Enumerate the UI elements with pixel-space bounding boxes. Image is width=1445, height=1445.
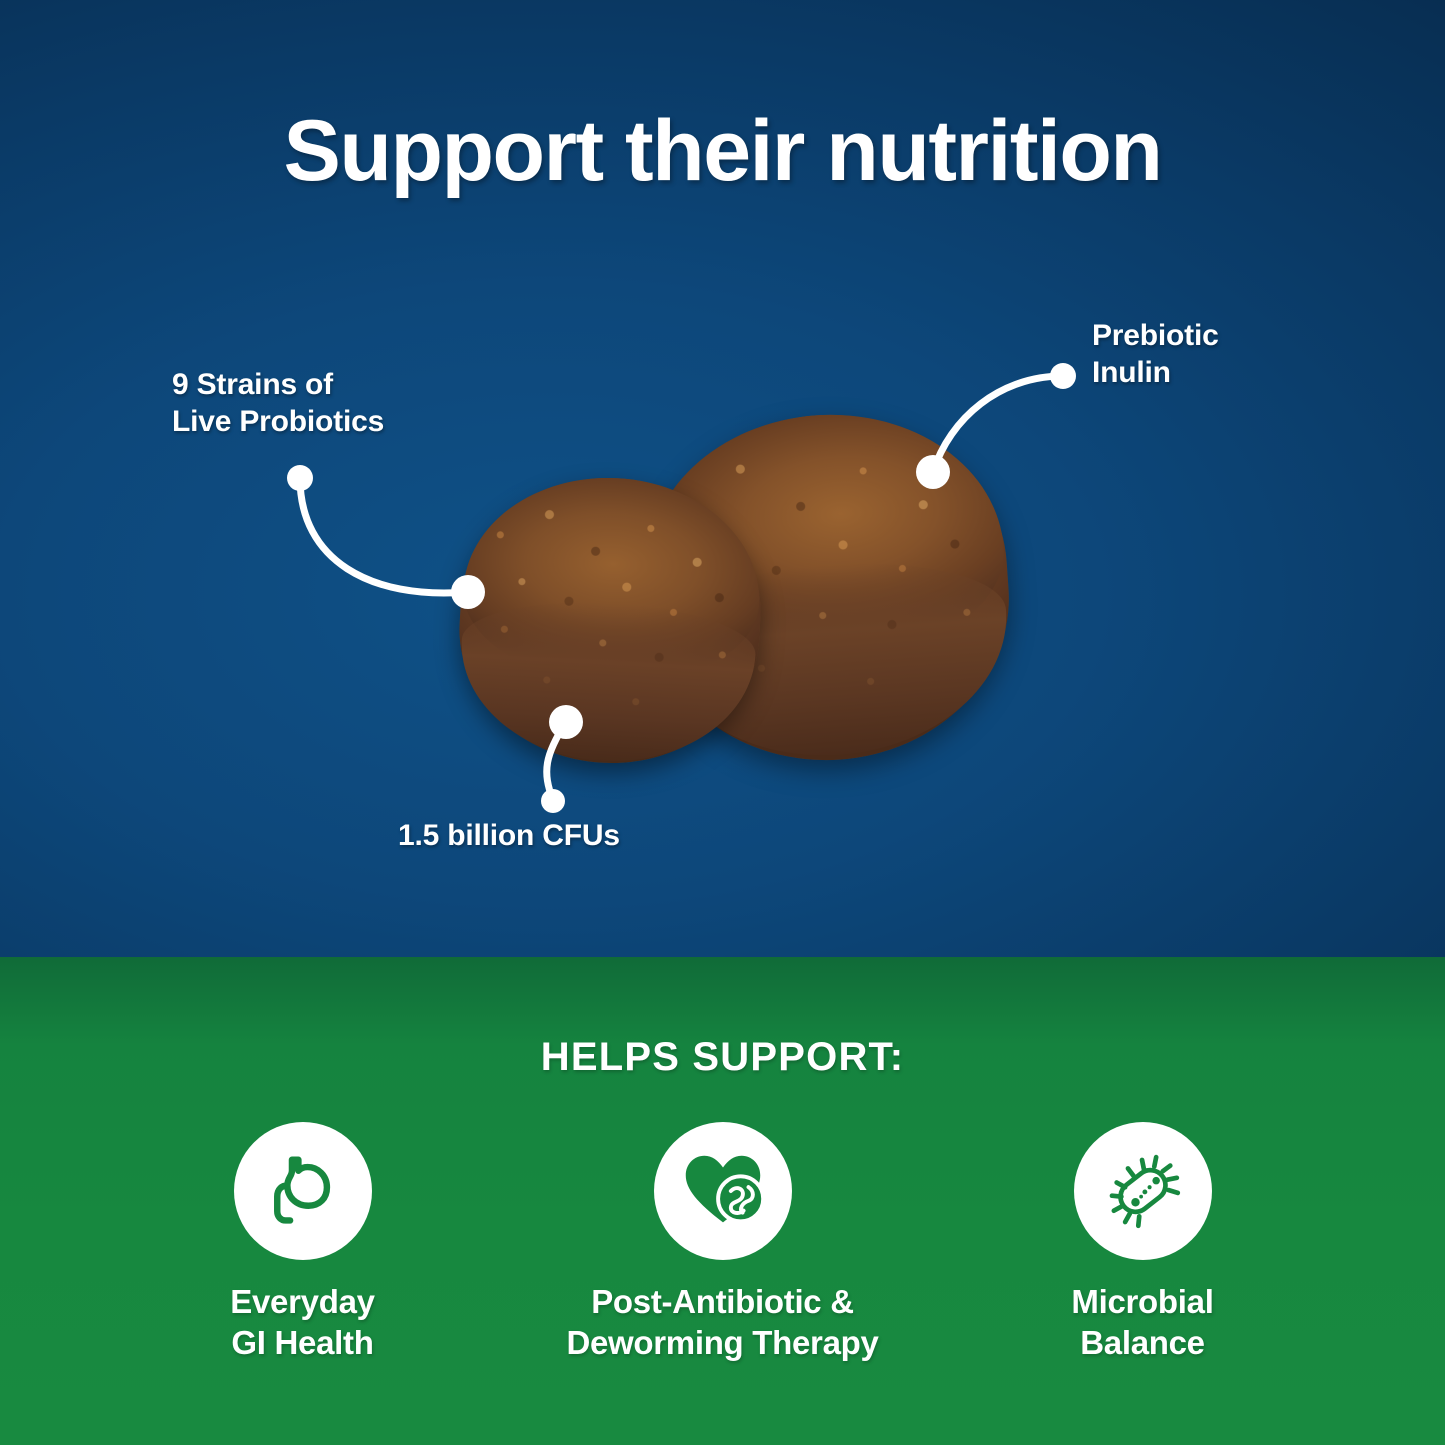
callout-dot-inulin-label [1050, 363, 1076, 389]
callout-line-strains [300, 478, 468, 593]
benefits-heading: HELPS SUPPORT: [0, 1035, 1445, 1080]
heart-intestine-icon [674, 1142, 772, 1240]
callout-label-cfus: 1.5 billion CFUs [398, 818, 620, 855]
callout-dot-strains-anchor [451, 575, 485, 609]
benefit-icon-circle [234, 1122, 372, 1260]
callout-label-inulin: Prebiotic Inulin [1092, 318, 1219, 391]
hero-panel: Support their nutrition [0, 0, 1445, 957]
stomach-icon [257, 1145, 349, 1237]
product-infographic: Support their nutrition [0, 0, 1445, 1445]
callout-dot-strains-label [287, 465, 313, 491]
benefit-label: Post-Antibiotic & Deworming Therapy [566, 1282, 878, 1364]
callout-lines [0, 0, 1445, 957]
callout-line-inulin [933, 376, 1063, 472]
benefit-item: Post-Antibiotic & Deworming Therapy [513, 1122, 933, 1364]
callout-dot-cfus-label [541, 789, 565, 813]
benefit-icon-circle [1074, 1122, 1212, 1260]
benefit-label: Everyday GI Health [230, 1282, 374, 1364]
callout-dot-inulin-anchor [916, 455, 950, 489]
bacteria-icon [1096, 1144, 1190, 1238]
callout-label-strains: 9 Strains of Live Probiotics [172, 367, 384, 440]
benefit-item: Microbial Balance [933, 1122, 1353, 1364]
benefit-label: Microbial Balance [1071, 1282, 1213, 1364]
benefits-list: Everyday GI Health Post-Antibiotic & Dew… [0, 1122, 1445, 1364]
benefit-icon-circle [654, 1122, 792, 1260]
callout-dot-cfus-anchor [549, 705, 583, 739]
benefit-item: Everyday GI Health [93, 1122, 513, 1364]
